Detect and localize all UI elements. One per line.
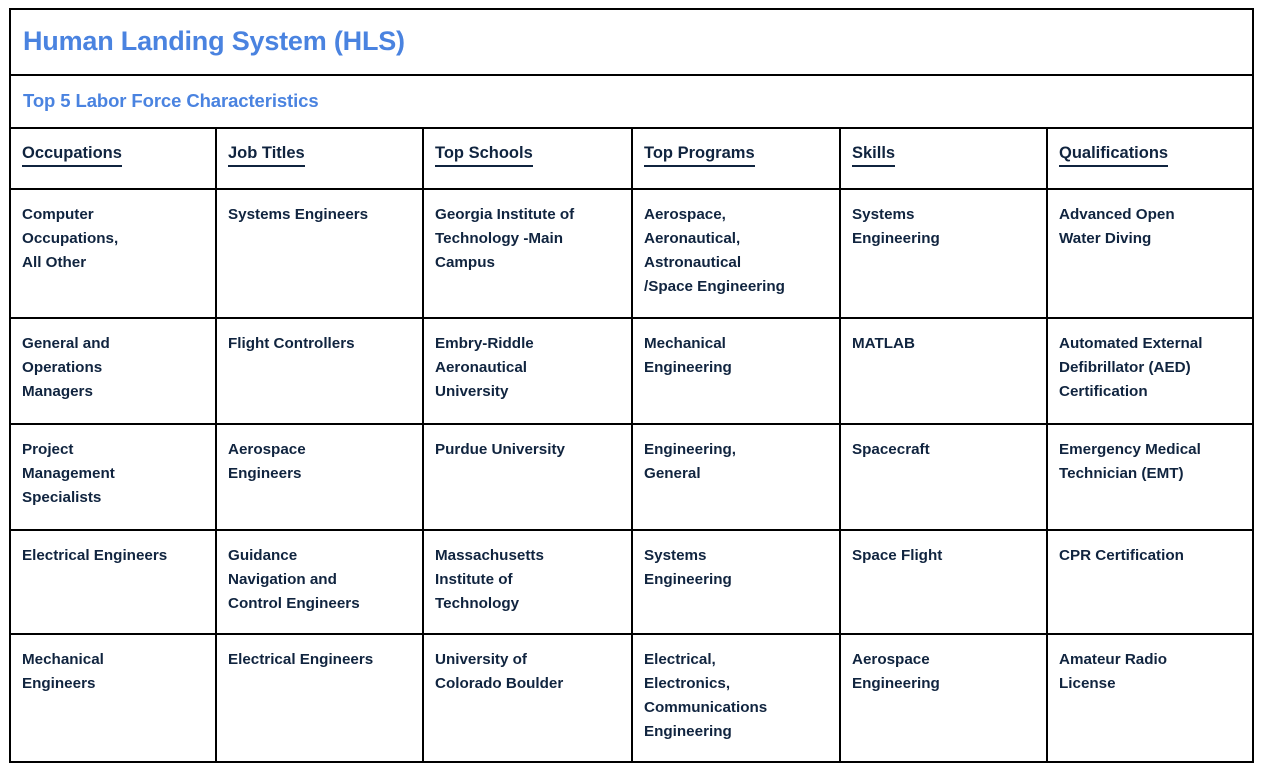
cell-text: MATLAB — [852, 332, 1036, 356]
cell-text: Mechanical Engineering — [644, 332, 829, 380]
cell-text: Aerospace Engineers — [228, 438, 412, 486]
cell-job-titles: Electrical Engineers — [216, 634, 423, 761]
page-title: Human Landing System (HLS) — [23, 27, 405, 57]
cell-job-titles: Aerospace Engineers — [216, 424, 423, 530]
column-header-occupations[interactable]: Occupations — [11, 129, 216, 189]
column-header-label: Job Titles — [228, 144, 305, 167]
cell-qualifications: Emergency Medical Technician (EMT) — [1047, 424, 1253, 530]
column-header-job-titles[interactable]: Job Titles — [216, 129, 423, 189]
cell-top-schools: Georgia Institute of Technology -Main Ca… — [423, 189, 632, 318]
column-header-label: Top Schools — [435, 144, 533, 167]
table-row: Electrical Engineers Guidance Navigation… — [11, 530, 1253, 634]
cell-text: Space Flight — [852, 544, 1036, 568]
cell-job-titles: Systems Engineers — [216, 189, 423, 318]
cell-job-titles: Flight Controllers — [216, 318, 423, 424]
cell-top-programs: Aerospace, Aeronautical, Astronautical /… — [632, 189, 840, 318]
hls-report-card: Human Landing System (HLS) Top 5 Labor F… — [9, 8, 1254, 763]
column-header-label: Top Programs — [644, 144, 755, 167]
column-header-qualifications[interactable]: Qualifications — [1047, 129, 1253, 189]
cell-text: Guidance Navigation and Control Engineer… — [228, 544, 412, 616]
cell-occupations: Mechanical Engineers — [11, 634, 216, 761]
cell-text: Project Management Specialists — [22, 438, 205, 510]
cell-text: Purdue University — [435, 438, 621, 462]
table-row: Project Management Specialists Aerospace… — [11, 424, 1253, 530]
table-body: Computer Occupations, All Other Systems … — [11, 189, 1253, 761]
cell-text: Electrical Engineers — [22, 544, 205, 568]
cell-top-schools: University of Colorado Boulder — [423, 634, 632, 761]
column-header-top-schools[interactable]: Top Schools — [423, 129, 632, 189]
cell-text: Massachusetts Institute of Technology — [435, 544, 621, 616]
cell-top-schools: Embry-Riddle Aeronautical University — [423, 318, 632, 424]
column-header-label: Skills — [852, 144, 895, 167]
cell-top-programs: Electrical, Electronics, Communications … — [632, 634, 840, 761]
cell-top-programs: Engineering, General — [632, 424, 840, 530]
cell-skills: Space Flight — [840, 530, 1047, 634]
cell-top-schools: Purdue University — [423, 424, 632, 530]
table-container: Occupations Job Titles Top Schools Top P… — [11, 129, 1252, 761]
cell-skills: Aerospace Engineering — [840, 634, 1047, 761]
cell-qualifications: Advanced Open Water Diving — [1047, 189, 1253, 318]
column-header-skills[interactable]: Skills — [840, 129, 1047, 189]
cell-text: Embry-Riddle Aeronautical University — [435, 332, 621, 404]
cell-text: Systems Engineering — [852, 203, 1036, 251]
cell-text: Systems Engineering — [644, 544, 829, 592]
cell-text: Georgia Institute of Technology -Main Ca… — [435, 203, 621, 275]
cell-top-programs: Systems Engineering — [632, 530, 840, 634]
cell-text: Advanced Open Water Diving — [1059, 203, 1243, 251]
cell-skills: MATLAB — [840, 318, 1047, 424]
cell-qualifications: CPR Certification — [1047, 530, 1253, 634]
table-row: Mechanical Engineers Electrical Engineer… — [11, 634, 1253, 761]
table-header-row: Occupations Job Titles Top Schools Top P… — [11, 129, 1253, 189]
cell-skills: Spacecraft — [840, 424, 1047, 530]
cell-qualifications: Amateur Radio License — [1047, 634, 1253, 761]
cell-text: General and Operations Managers — [22, 332, 205, 404]
cell-text: CPR Certification — [1059, 544, 1243, 568]
title-band: Human Landing System (HLS) — [11, 10, 1252, 76]
cell-occupations: Computer Occupations, All Other — [11, 189, 216, 318]
cell-text: Emergency Medical Technician (EMT) — [1059, 438, 1243, 486]
table-row: General and Operations Managers Flight C… — [11, 318, 1253, 424]
cell-text: Flight Controllers — [228, 332, 412, 356]
cell-text: Aerospace, Aeronautical, Astronautical /… — [644, 203, 829, 299]
labor-force-table: Occupations Job Titles Top Schools Top P… — [11, 129, 1253, 761]
cell-skills: Systems Engineering — [840, 189, 1047, 318]
column-header-label: Occupations — [22, 144, 122, 167]
cell-text: Engineering, General — [644, 438, 829, 486]
cell-text: Electrical, Electronics, Communications … — [644, 648, 829, 744]
table-header: Occupations Job Titles Top Schools Top P… — [11, 129, 1253, 189]
cell-top-programs: Mechanical Engineering — [632, 318, 840, 424]
cell-occupations: Project Management Specialists — [11, 424, 216, 530]
column-header-label: Qualifications — [1059, 144, 1168, 167]
cell-job-titles: Guidance Navigation and Control Engineer… — [216, 530, 423, 634]
table-row: Computer Occupations, All Other Systems … — [11, 189, 1253, 318]
cell-text: Aerospace Engineering — [852, 648, 1036, 696]
section-subtitle: Top 5 Labor Force Characteristics — [23, 91, 319, 111]
cell-occupations: Electrical Engineers — [11, 530, 216, 634]
subtitle-band: Top 5 Labor Force Characteristics — [11, 76, 1252, 129]
cell-text: Systems Engineers — [228, 203, 412, 227]
cell-text: Electrical Engineers — [228, 648, 412, 672]
cell-text: Mechanical Engineers — [22, 648, 205, 696]
cell-text: Spacecraft — [852, 438, 1036, 462]
column-header-top-programs[interactable]: Top Programs — [632, 129, 840, 189]
cell-text: University of Colorado Boulder — [435, 648, 621, 696]
cell-occupations: General and Operations Managers — [11, 318, 216, 424]
cell-text: Computer Occupations, All Other — [22, 203, 205, 275]
cell-qualifications: Automated External Defibrillator (AED) C… — [1047, 318, 1253, 424]
cell-text: Automated External Defibrillator (AED) C… — [1059, 332, 1243, 404]
cell-top-schools: Massachusetts Institute of Technology — [423, 530, 632, 634]
cell-text: Amateur Radio License — [1059, 648, 1243, 696]
page-root: Human Landing System (HLS) Top 5 Labor F… — [0, 0, 1264, 772]
